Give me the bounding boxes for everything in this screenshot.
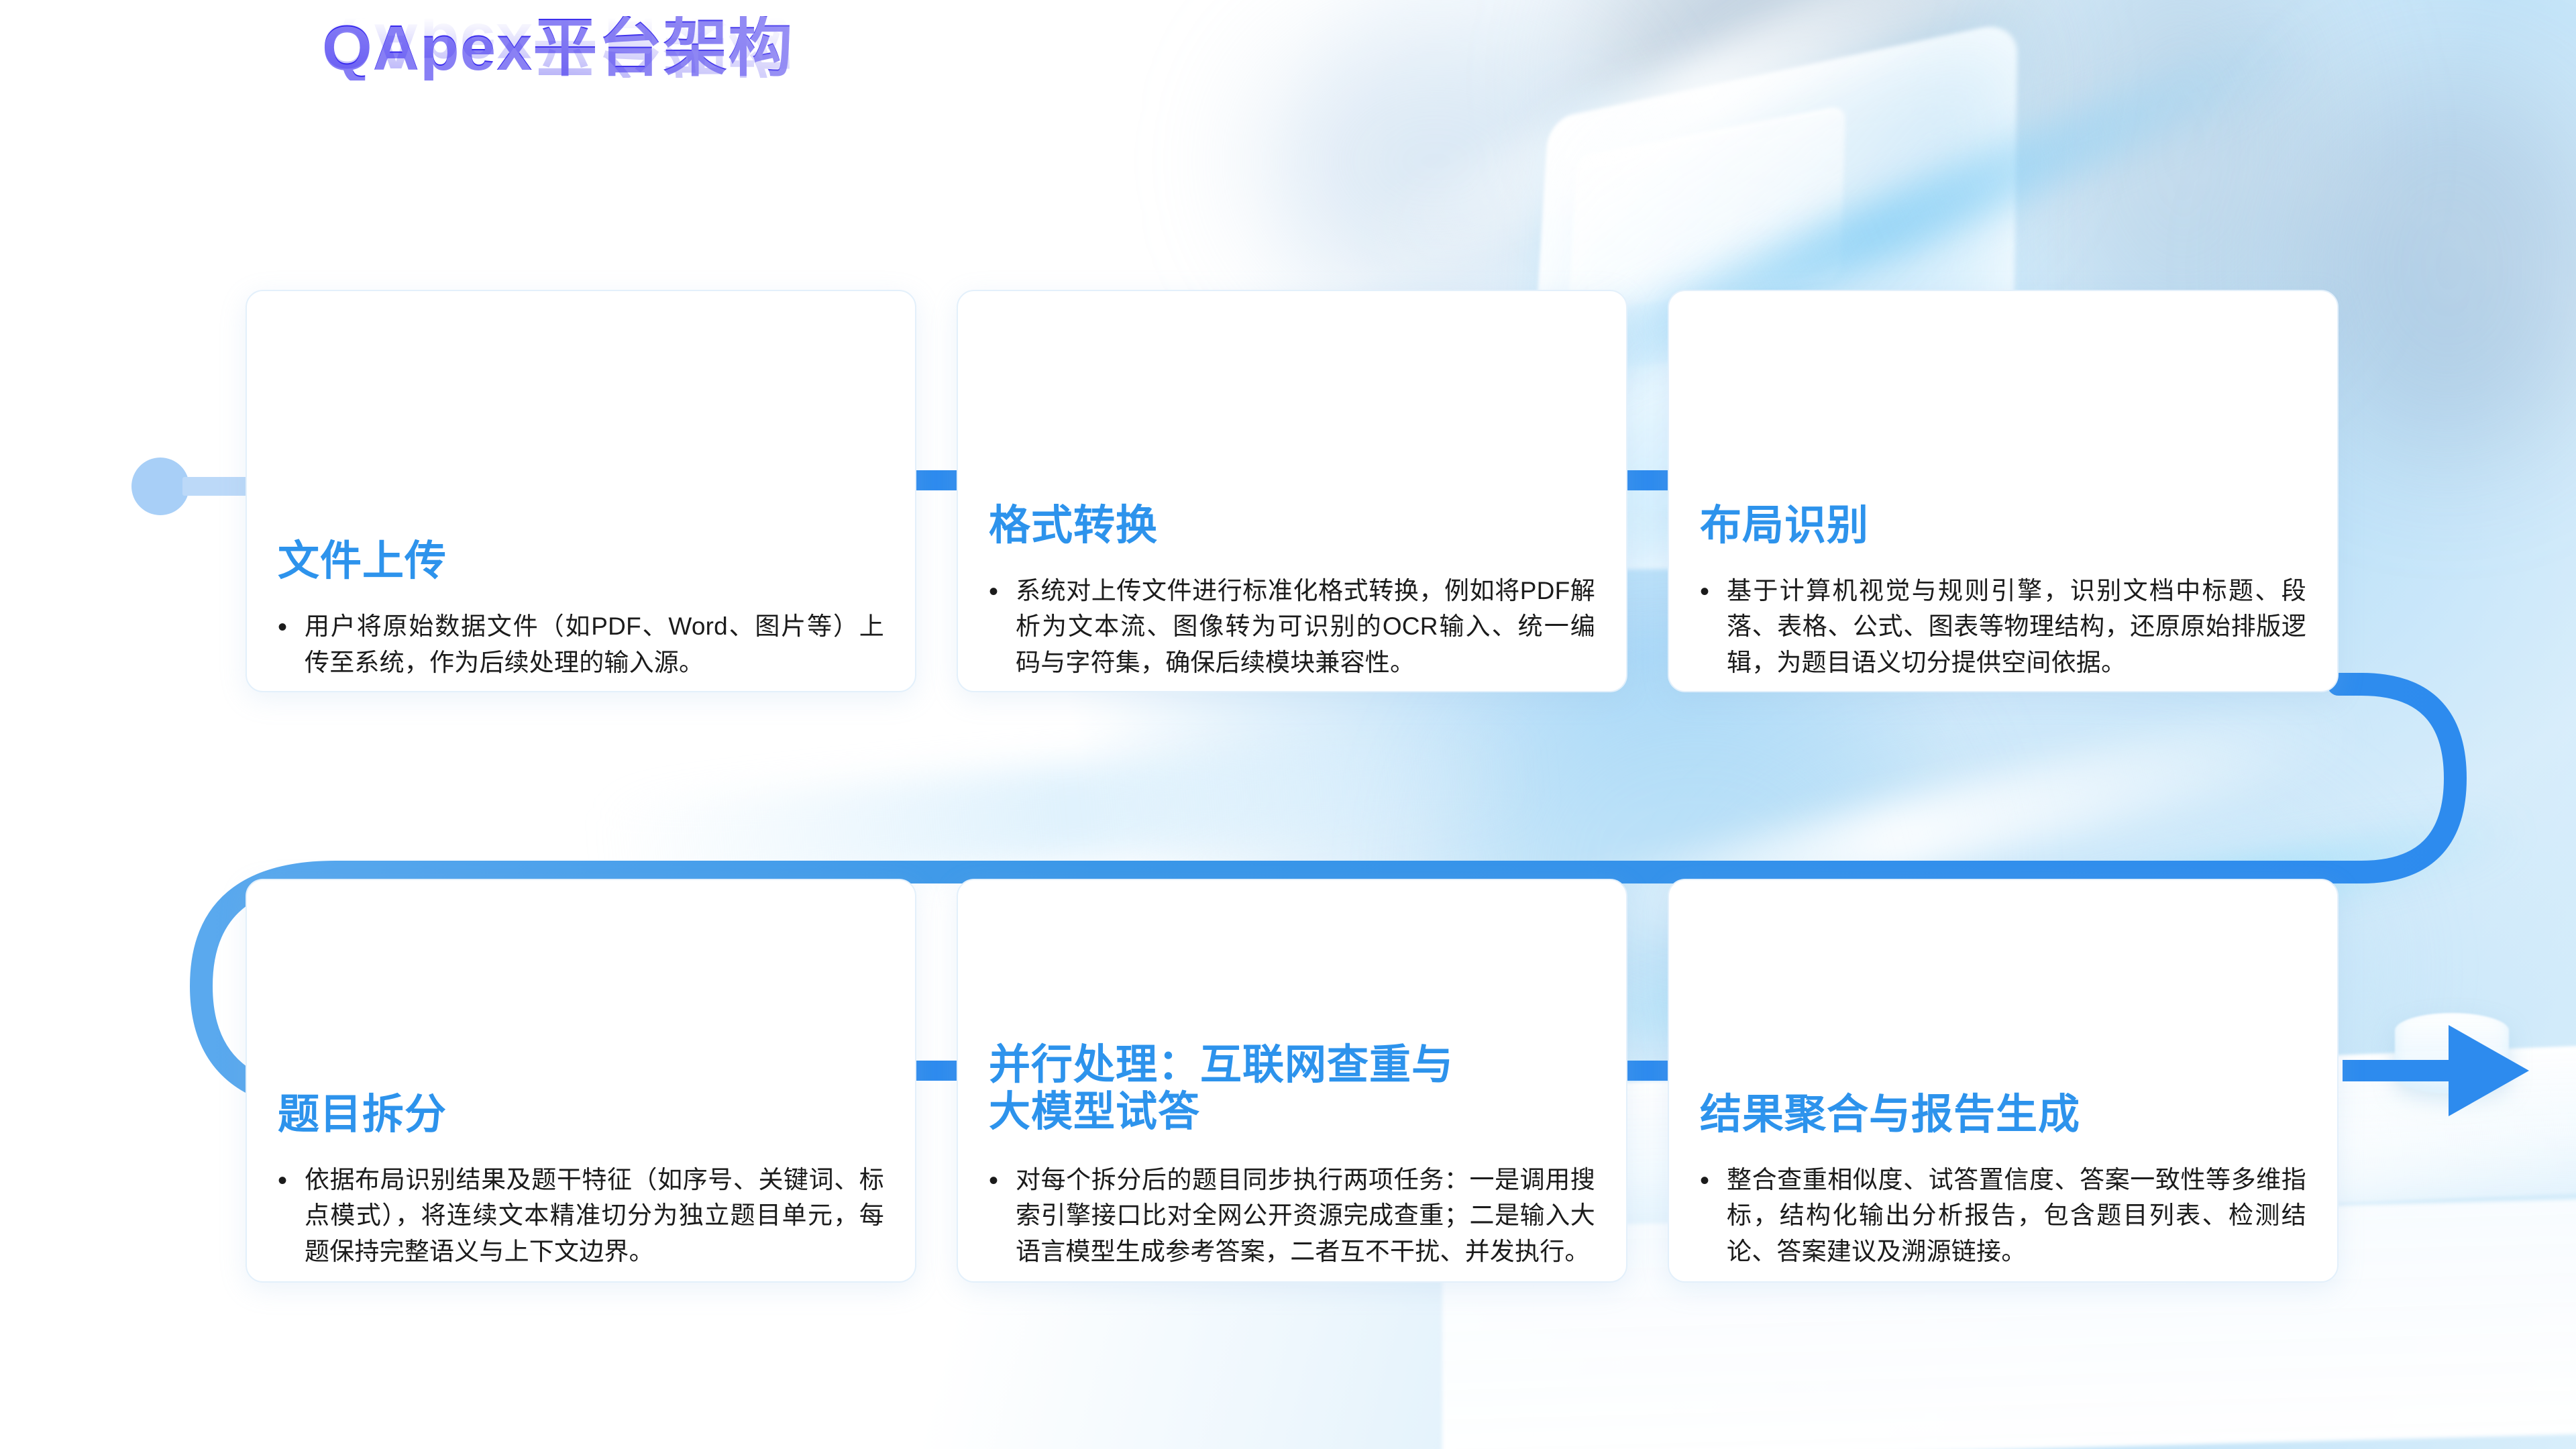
step-title: 格式转换: [989, 502, 1595, 549]
step-description: 对每个拆分后的题目同步执行两项任务：一是调用搜索引擎接口比对全网公开资源完成查重…: [1016, 1162, 1595, 1269]
step-description: 整合查重相似度、试答置信度、答案一致性等多维指标，结构化输出分析报告，包含题目列…: [1727, 1162, 2306, 1269]
bullet-marker-icon: •: [989, 1162, 998, 1200]
step-description: 用户将原始数据文件（如PDF、Word、图片等）上传至系统，作为后续处理的输入源…: [305, 608, 884, 680]
glass-cylinder-graphic: [2395, 1013, 2509, 1093]
bullet-marker-icon: •: [278, 608, 287, 647]
step-bullet: • 依据布局识别结果及题干特征（如序号、关键词、标点模式），将连续文本精准切分为…: [278, 1162, 884, 1269]
step-title: 文件上传: [278, 538, 884, 584]
step-bullet: • 系统对上传文件进行标准化格式转换，例如将PDF解析为文本流、图像转为可识别的…: [989, 573, 1595, 680]
flow-start-dot-icon: [131, 458, 189, 515]
bullet-marker-icon: •: [1700, 573, 1709, 611]
step-card-question-splitting[interactable]: 题目拆分 • 依据布局识别结果及题干特征（如序号、关键词、标点模式），将连续文本…: [246, 879, 916, 1283]
step-bullet: • 整合查重相似度、试答置信度、答案一致性等多维指标，结构化输出分析报告，包含题…: [1700, 1162, 2306, 1269]
step-card-result-aggregation[interactable]: 结果聚合与报告生成 • 整合查重相似度、试答置信度、答案一致性等多维指标，结构化…: [1668, 879, 2339, 1283]
step-description: 系统对上传文件进行标准化格式转换，例如将PDF解析为文本流、图像转为可识别的OC…: [1016, 573, 1595, 680]
step-description: 依据布局识别结果及题干特征（如序号、关键词、标点模式），将连续文本精准切分为独立…: [305, 1162, 884, 1269]
bullet-marker-icon: •: [989, 573, 998, 611]
step-card-format-conversion[interactable]: 格式转换 • 系统对上传文件进行标准化格式转换，例如将PDF解析为文本流、图像转…: [957, 290, 1627, 692]
slide-title-block: QApex平台架构 QApex平台架构: [322, 16, 1060, 157]
step-title: 布局识别: [1700, 502, 2306, 549]
step-card-parallel-processing[interactable]: 并行处理：互联网查重与 大模型试答 • 对每个拆分后的题目同步执行两项任务：一是…: [957, 879, 1627, 1283]
step-bullet: • 对每个拆分后的题目同步执行两项任务：一是调用搜索引擎接口比对全网公开资源完成…: [989, 1162, 1595, 1269]
step-card-layout-recognition[interactable]: 布局识别 • 基于计算机视觉与规则引擎，识别文档中标题、段落、表格、公式、图表等…: [1668, 290, 2339, 692]
step-title: 题目拆分: [278, 1091, 884, 1138]
step-bullet: • 用户将原始数据文件（如PDF、Word、图片等）上传至系统，作为后续处理的输…: [278, 608, 884, 680]
bullet-marker-icon: •: [278, 1162, 287, 1200]
step-card-file-upload[interactable]: 文件上传 • 用户将原始数据文件（如PDF、Word、图片等）上传至系统，作为后…: [246, 290, 916, 692]
slide-title: QApex平台架构: [322, 16, 1060, 80]
slide-canvas: QApex平台架构 QApex平台架构 文件上传 • 用户将原始数据文件（如PD…: [0, 0, 2576, 1449]
step-title: 结果聚合与报告生成: [1700, 1091, 2306, 1138]
flow-start-stub: [182, 477, 255, 496]
step-title: 并行处理：互联网查重与 大模型试答: [989, 1042, 1595, 1135]
step-description: 基于计算机视觉与规则引擎，识别文档中标题、段落、表格、公式、图表等物理结构，还原…: [1727, 573, 2306, 680]
bullet-marker-icon: •: [1700, 1162, 1709, 1200]
step-bullet: • 基于计算机视觉与规则引擎，识别文档中标题、段落、表格、公式、图表等物理结构，…: [1700, 573, 2306, 680]
